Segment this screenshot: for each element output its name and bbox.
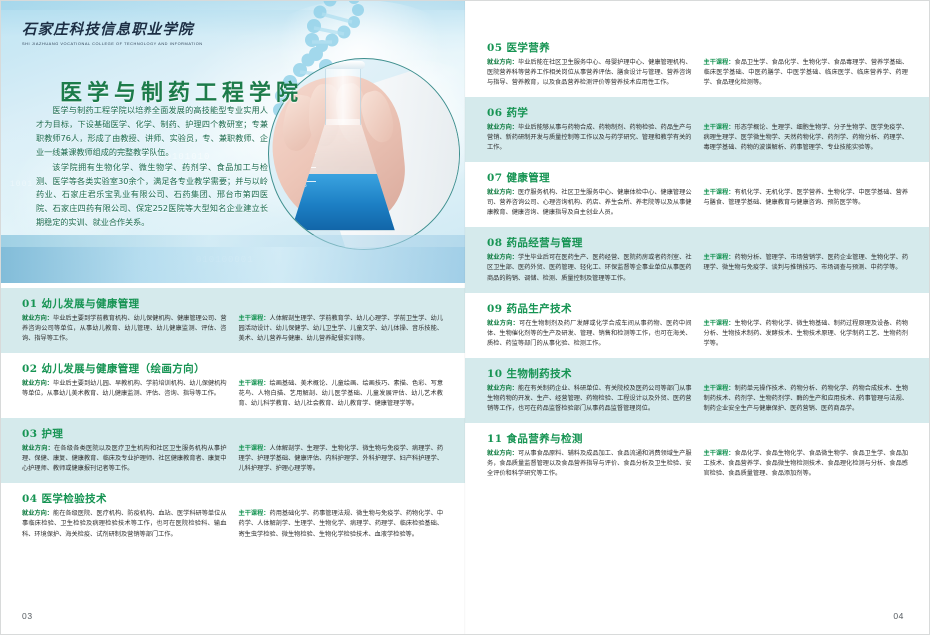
major-list-right: 05 医学营养就业方向：毕业后能在社区卫生服务中心、母婴护理中心、健康管理机构、… bbox=[465, 32, 930, 488]
school-title: 医学与制药工程学院 bbox=[60, 75, 303, 107]
core-courses-text: 形态学概论、生理学、细胞生物学、分子生物学、医学免疫学、病理生理学、医学微生物学… bbox=[704, 124, 909, 151]
major-block[interactable]: 02 幼儿发展与健康管理（绘画方向）就业方向：毕业后主要到幼儿园、早教机构、学前… bbox=[0, 353, 465, 418]
core-courses-label: 主干课程： bbox=[704, 124, 735, 131]
major-columns: 就业方向：可在生物制剂及药厂发酵或化学合成车间从事药物、医药中间体、生物催化剂等… bbox=[487, 319, 908, 349]
employment-direction: 就业方向：可从事食品原料、辅料及成品加工、食品流通和消费领域生产服务，食品质量监… bbox=[487, 449, 692, 479]
major-columns: 就业方向：学生毕业后可在医药生产、医药经营、医院药房或者药剂室、社区卫生部、医药… bbox=[487, 253, 908, 283]
employment-direction: 就业方向：在各级各类医院以及医疗卫生机构和社区卫生服务机构从事护理、保健、康复、… bbox=[22, 444, 227, 474]
school-intro-p2: 该学院拥有生物化学、微生物学、药剂学、食品加工与检测、医学等各类实验室30余个，… bbox=[36, 161, 268, 231]
core-courses-text: 食品卫生学、食品化学、生物化学、食品毒理学、营养学基础、临床医学基础、中医药膳学… bbox=[704, 59, 909, 86]
core-courses-text: 人体解剖生理学、学前教育学、幼儿心理学、学前卫生学、幼儿园活动设计、幼儿保健学、… bbox=[239, 315, 444, 342]
page-right: 05 医学营养就业方向：毕业后能在社区卫生服务中心、母婴护理中心、健康管理机构、… bbox=[465, 0, 930, 635]
core-courses-label: 主干课程： bbox=[239, 380, 270, 387]
employment-direction-label: 就业方向： bbox=[487, 189, 518, 196]
page-number-right: 04 bbox=[893, 611, 904, 621]
employment-direction-label: 就业方向： bbox=[22, 315, 53, 322]
core-courses-label: 主干课程： bbox=[239, 445, 270, 452]
major-title: 02 幼儿发展与健康管理（绘画方向） bbox=[22, 361, 443, 376]
employment-direction-text: 毕业后能够从事与药物合成、药物制剂、药物检验、药品生产与营销、新药研制开发与质量… bbox=[487, 124, 692, 151]
employment-direction: 就业方向：可在生物制剂及药厂发酵或化学合成车间从事药物、医药中间体、生物催化剂等… bbox=[487, 319, 692, 349]
employment-direction-label: 就业方向： bbox=[22, 510, 53, 517]
hero-band bbox=[0, 247, 465, 283]
flask-tick-label: 100 bbox=[299, 183, 307, 188]
school-intro: 医学与制药工程学院以培养全面发展的高技能型专业实用人才为目标，下设基础医学、化学… bbox=[36, 104, 268, 230]
major-title: 08 药品经营与管理 bbox=[487, 235, 908, 250]
core-courses: 主干课程：生物化学、药物化学、微生物基础、制药过程原理及设备、药物分析、生物技术… bbox=[704, 319, 909, 349]
core-courses-text: 食品化学、食品生物化学、食品微生物学、食品卫生学、食品加工技术、食品营养学、食品… bbox=[704, 450, 909, 477]
employment-direction-label: 就业方向： bbox=[487, 254, 518, 261]
employment-direction-label: 就业方向： bbox=[22, 380, 53, 387]
flask-tick-label: 150 bbox=[299, 169, 307, 174]
major-columns: 就业方向：毕业后主要到学前教育机构、幼儿保健机构、健康管理公司、营养咨询公司等单… bbox=[22, 314, 443, 344]
employment-direction-label: 就业方向： bbox=[487, 59, 518, 66]
core-courses-text: 制药单元操作技术、药物分析、药物化学、药物合成技术、生物制药技术、药剂学、生物药… bbox=[704, 385, 909, 412]
employment-direction: 就业方向：能在有关制药企业、科研单位、有关院校及医药公司等部门从事生物药物的开发… bbox=[487, 384, 692, 414]
major-title: 06 药学 bbox=[487, 105, 908, 120]
employment-direction: 就业方向：能在各级医院、医疗机构、防疫机构、血站、医学科研等单位从事临床检验、卫… bbox=[22, 509, 227, 539]
employment-direction-text: 学生毕业后可在医药生产、医药经营、医院药房或者药剂室、社区卫生部、医药外贸、医药… bbox=[487, 254, 692, 281]
major-block[interactable]: 11 食品营养与检测就业方向：可从事食品原料、辅料及成品加工、食品流通和消费领域… bbox=[465, 423, 930, 488]
employment-direction-label: 就业方向： bbox=[487, 124, 518, 131]
flask-body: 200 150 100 bbox=[291, 119, 395, 231]
major-title: 10 生物制药技术 bbox=[487, 366, 908, 381]
core-courses-label: 主干课程： bbox=[704, 385, 735, 392]
core-courses: 主干课程：药用基础化学、药事管理法规、微生物与免疫学、药物化学、中药学、人体解剖… bbox=[239, 509, 444, 539]
core-courses: 主干课程：食品化学、食品生物化学、食品微生物学、食品卫生学、食品加工技术、食品营… bbox=[704, 449, 909, 479]
core-courses-text: 绘画基础、美术概论、儿童绘画、绘画技巧、素描、色彩、写意花鸟、人物白描、艺用解剖… bbox=[239, 380, 444, 407]
core-courses: 主干课程：药物分析、管理学、市场营销学、医药企业管理、生物化学、药理学、微生物与… bbox=[704, 253, 909, 283]
major-title: 09 药品生产技术 bbox=[487, 301, 908, 316]
major-columns: 就业方向：能在有关制药企业、科研单位、有关院校及医药公司等部门从事生物药物的开发… bbox=[487, 384, 908, 414]
core-courses-text: 人体解剖学、生理学、生物化学、微生物与免疫学、病理学、药理学、护理学基础、健康评… bbox=[239, 445, 444, 472]
employment-direction: 就业方向：学生毕业后可在医药生产、医药经营、医院药房或者药剂室、社区卫生部、医药… bbox=[487, 253, 692, 283]
major-columns: 就业方向：能在各级医院、医疗机构、防疫机构、血站、医学科研等单位从事临床检验、卫… bbox=[22, 509, 443, 539]
erlenmeyer-flask-icon: 200 150 100 bbox=[291, 63, 395, 231]
core-courses-label: 主干课程： bbox=[704, 189, 735, 196]
major-block[interactable]: 04 医学检验技术就业方向：能在各级医院、医疗机构、防疫机构、血站、医学科研等单… bbox=[0, 483, 465, 548]
flask-rim bbox=[321, 61, 365, 69]
core-courses: 主干课程：人体解剖学、生理学、生物化学、微生物与免疫学、病理学、药理学、护理学基… bbox=[239, 444, 444, 474]
employment-direction-text: 能在各级医院、医疗机构、防疫机构、血站、医学科研等单位从事临床检验、卫生检验及病… bbox=[22, 510, 227, 537]
major-block[interactable]: 08 药品经营与管理就业方向：学生毕业后可在医药生产、医药经营、医院药房或者药剂… bbox=[465, 227, 930, 292]
employment-direction-label: 就业方向： bbox=[22, 445, 54, 452]
employment-direction: 就业方向：毕业后能够从事与药物合成、药物制剂、药物检验、药品生产与营销、新药研制… bbox=[487, 123, 692, 153]
major-columns: 就业方向：医疗服务机构、社区卫生服务中心、健康体检中心、健康管理公司、营养咨询公… bbox=[487, 188, 908, 218]
employment-direction: 就业方向：毕业后主要到学前教育机构、幼儿保健机构、健康管理公司、营养咨询公司等单… bbox=[22, 314, 227, 344]
core-courses-text: 生物化学、药物化学、微生物基础、制药过程原理及设备、药物分析、生物技术制药、发酵… bbox=[704, 320, 909, 347]
core-courses: 主干课程：绘画基础、美术概论、儿童绘画、绘画技巧、素描、色彩、写意花鸟、人物白描… bbox=[239, 379, 444, 409]
major-columns: 就业方向：毕业后能在社区卫生服务中心、母婴护理中心、健康管理机构、医院营养科等营… bbox=[487, 58, 908, 88]
major-block[interactable]: 01 幼儿发展与健康管理就业方向：毕业后主要到学前教育机构、幼儿保健机构、健康管… bbox=[0, 288, 465, 353]
major-block[interactable]: 09 药品生产技术就业方向：可在生物制剂及药厂发酵或化学合成车间从事药物、医药中… bbox=[465, 293, 930, 358]
employment-direction-label: 就业方向： bbox=[487, 385, 518, 392]
major-block[interactable]: 10 生物制药技术就业方向：能在有关制药企业、科研单位、有关院校及医药公司等部门… bbox=[465, 358, 930, 423]
core-courses-text: 药物分析、管理学、市场营销学、医药企业管理、生物化学、药理学、微生物与免疫学、谈… bbox=[704, 254, 909, 271]
core-courses-label: 主干课程： bbox=[704, 254, 735, 261]
brochure-spread: 01010101010 010100001 1001 200 bbox=[0, 0, 930, 635]
employment-direction-text: 能在有关制药企业、科研单位、有关院校及医药公司等部门从事生物药物的开发、生产、经… bbox=[487, 385, 692, 412]
core-courses: 主干课程：制药单元操作技术、药物分析、药物化学、药物合成技术、生物制药技术、药剂… bbox=[704, 384, 909, 414]
college-logo: 石家庄科技信息职业学院 SHI JIAZHUANG VOCATIONAL COL… bbox=[22, 18, 203, 46]
page-left: 01010101010 010100001 1001 200 bbox=[0, 0, 465, 635]
college-name-en: SHI JIAZHUANG VOCATIONAL COLLEGE OF TECH… bbox=[22, 41, 203, 46]
employment-direction: 就业方向：毕业后能在社区卫生服务中心、母婴护理中心、健康管理机构、医院营养科等营… bbox=[487, 58, 692, 88]
employment-direction-text: 毕业后主要到幼儿园、早教机构、学前培训机构、幼儿保健机构等单位，从事幼儿美术教育… bbox=[22, 380, 227, 397]
major-columns: 就业方向：可从事食品原料、辅料及成品加工、食品流通和消费领域生产服务，食品质量监… bbox=[487, 449, 908, 479]
core-courses-label: 主干课程： bbox=[239, 510, 270, 517]
hero-band bbox=[0, 235, 465, 247]
flask-neck bbox=[325, 63, 361, 125]
employment-direction-label: 就业方向： bbox=[487, 450, 518, 457]
binary-watermark: 1001 bbox=[10, 180, 33, 189]
employment-direction-text: 毕业后主要到学前教育机构、幼儿保健机构、健康管理公司、营养咨询公司等单位，从事幼… bbox=[22, 315, 227, 342]
core-courses: 主干课程：有机化学、无机化学、医学营养、生物化学、中医学基础、营养与膳食、管理学… bbox=[704, 188, 909, 218]
core-courses-label: 主干课程： bbox=[239, 315, 270, 322]
major-block[interactable]: 05 医学营养就业方向：毕业后能在社区卫生服务中心、母婴护理中心、健康管理机构、… bbox=[465, 32, 930, 97]
major-title: 07 健康管理 bbox=[487, 170, 908, 185]
major-title: 01 幼儿发展与健康管理 bbox=[22, 296, 443, 311]
core-courses: 主干课程：人体解剖生理学、学前教育学、幼儿心理学、学前卫生学、幼儿园活动设计、幼… bbox=[239, 314, 444, 344]
major-columns: 就业方向：在各级各类医院以及医疗卫生机构和社区卫生服务机构从事护理、保健、康复、… bbox=[22, 444, 443, 474]
core-courses-label: 主干课程： bbox=[704, 59, 735, 66]
employment-direction: 就业方向：医疗服务机构、社区卫生服务中心、健康体检中心、健康管理公司、营养咨询公… bbox=[487, 188, 692, 218]
flask-tick-label: 200 bbox=[299, 155, 307, 160]
major-title: 05 医学营养 bbox=[487, 40, 908, 55]
employment-direction-label: 就业方向： bbox=[487, 320, 519, 327]
core-courses-text: 药用基础化学、药事管理法规、微生物与免疫学、药物化学、中药学、人体解剖学、生理学… bbox=[239, 510, 444, 537]
major-columns: 就业方向：毕业后能够从事与药物合成、药物制剂、药物检验、药品生产与营销、新药研制… bbox=[487, 123, 908, 153]
college-name-cn: 石家庄科技信息职业学院 bbox=[22, 18, 203, 39]
core-courses: 主干课程：形态学概论、生理学、细胞生物学、分子生物学、医学免疫学、病理生理学、医… bbox=[704, 123, 909, 153]
major-block[interactable]: 06 药学就业方向：毕业后能够从事与药物合成、药物制剂、药物检验、药品生产与营销… bbox=[465, 97, 930, 162]
employment-direction: 就业方向：毕业后主要到幼儿园、早教机构、学前培训机构、幼儿保健机构等单位，从事幼… bbox=[22, 379, 227, 409]
major-list-left: 01 幼儿发展与健康管理就业方向：毕业后主要到学前教育机构、幼儿保健机构、健康管… bbox=[0, 288, 465, 549]
employment-direction-text: 医疗服务机构、社区卫生服务中心、健康体检中心、健康管理公司、营养咨询公司、心理咨… bbox=[487, 189, 692, 216]
school-intro-p1: 医学与制药工程学院以培养全面发展的高技能型专业实用人才为目标，下设基础医学、化学… bbox=[36, 104, 268, 160]
core-courses: 主干课程：食品卫生学、食品化学、生物化学、食品毒理学、营养学基础、临床医学基础、… bbox=[704, 58, 909, 88]
major-title: 11 食品营养与检测 bbox=[487, 431, 908, 446]
major-block[interactable]: 07 健康管理就业方向：医疗服务机构、社区卫生服务中心、健康体检中心、健康管理公… bbox=[465, 162, 930, 227]
core-courses-text: 有机化学、无机化学、医学营养、生物化学、中医学基础、营养与膳食、管理学基础、健康… bbox=[704, 189, 909, 206]
core-courses-label: 主干课程： bbox=[704, 320, 735, 327]
major-title: 04 医学检验技术 bbox=[22, 491, 443, 506]
major-columns: 就业方向：毕业后主要到幼儿园、早教机构、学前培训机构、幼儿保健机构等单位，从事幼… bbox=[22, 379, 443, 409]
major-block[interactable]: 03 护理就业方向：在各级各类医院以及医疗卫生机构和社区卫生服务机构从事护理、保… bbox=[0, 418, 465, 483]
core-courses-label: 主干课程： bbox=[704, 450, 735, 457]
hero-banner: 01010101010 010100001 1001 200 bbox=[0, 0, 465, 283]
employment-direction-text: 可从事食品原料、辅料及成品加工、食品流通和消费领域生产服务，食品质量监督管理以及… bbox=[487, 450, 692, 477]
major-title: 03 护理 bbox=[22, 426, 443, 441]
employment-direction-text: 毕业后能在社区卫生服务中心、母婴护理中心、健康管理机构、医院营养科等营养工作相关… bbox=[487, 59, 692, 86]
page-number-left: 03 bbox=[22, 611, 33, 621]
